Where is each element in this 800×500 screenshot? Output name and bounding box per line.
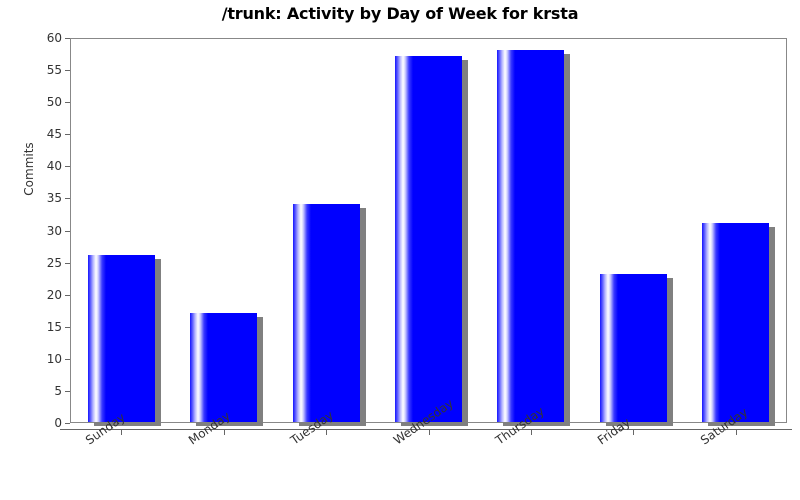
x-axis-tick <box>633 430 634 435</box>
x-axis-line <box>60 429 792 430</box>
y-axis-tick-label: 0 <box>22 417 62 429</box>
bar-body <box>190 313 257 422</box>
y-axis-tick-label: 50 <box>22 96 62 108</box>
bar-body <box>293 204 360 422</box>
x-axis-tick <box>429 430 430 435</box>
x-axis-tick <box>326 430 327 435</box>
y-axis-tick-label: 60 <box>22 32 62 44</box>
x-axis-tick <box>531 430 532 435</box>
y-axis-tick-label: 10 <box>22 353 62 365</box>
x-axis-tick <box>121 430 122 435</box>
x-axis-tick <box>736 430 737 435</box>
y-axis-tick-label: 25 <box>22 257 62 269</box>
bar-body <box>600 274 667 422</box>
bar <box>88 255 155 422</box>
plot-area <box>70 38 787 423</box>
chart-title: /trunk: Activity by Day of Week for krst… <box>0 4 800 23</box>
bar <box>293 204 360 422</box>
y-axis-tick-label: 30 <box>22 225 62 237</box>
bar <box>190 313 257 422</box>
bar-body <box>497 50 564 422</box>
y-axis-tick-label: 15 <box>22 321 62 333</box>
bar <box>497 50 564 422</box>
y-axis-tick <box>65 423 70 424</box>
bar <box>702 223 769 422</box>
x-axis-tick <box>224 430 225 435</box>
bar-body <box>395 56 462 422</box>
y-axis-tick-label: 40 <box>22 160 62 172</box>
y-axis-tick-label: 55 <box>22 64 62 76</box>
y-axis-tick-label: 45 <box>22 128 62 140</box>
y-axis-tick-label: 35 <box>22 192 62 204</box>
bar-body <box>702 223 769 422</box>
bar <box>600 274 667 422</box>
bar-body <box>88 255 155 422</box>
bars-layer <box>71 39 786 422</box>
y-axis-tick-label: 5 <box>22 385 62 397</box>
bar <box>395 56 462 422</box>
y-axis-tick-label: 20 <box>22 289 62 301</box>
bar-chart: /trunk: Activity by Day of Week for krst… <box>0 0 800 500</box>
